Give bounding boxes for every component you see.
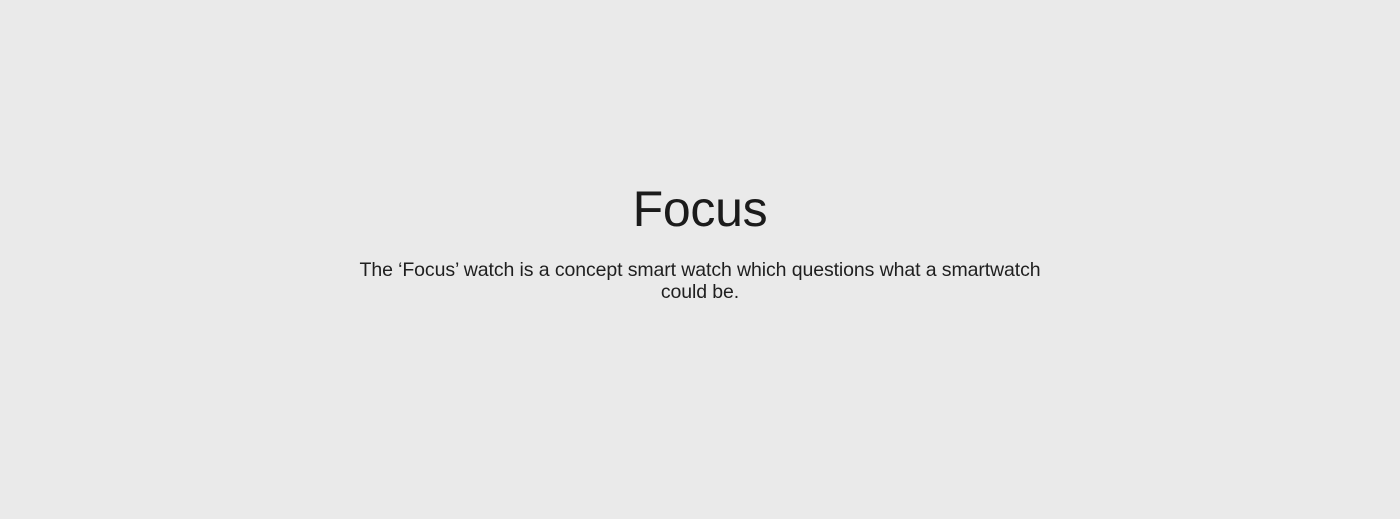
hero-content-block: Focus The ‘Focus’ watch is a concept sma… bbox=[0, 0, 1400, 519]
project-description: The ‘Focus’ watch is a concept smart wat… bbox=[340, 259, 1060, 303]
project-slide: Focus The ‘Focus’ watch is a concept sma… bbox=[0, 0, 1400, 519]
page-title: Focus bbox=[0, 178, 1400, 240]
